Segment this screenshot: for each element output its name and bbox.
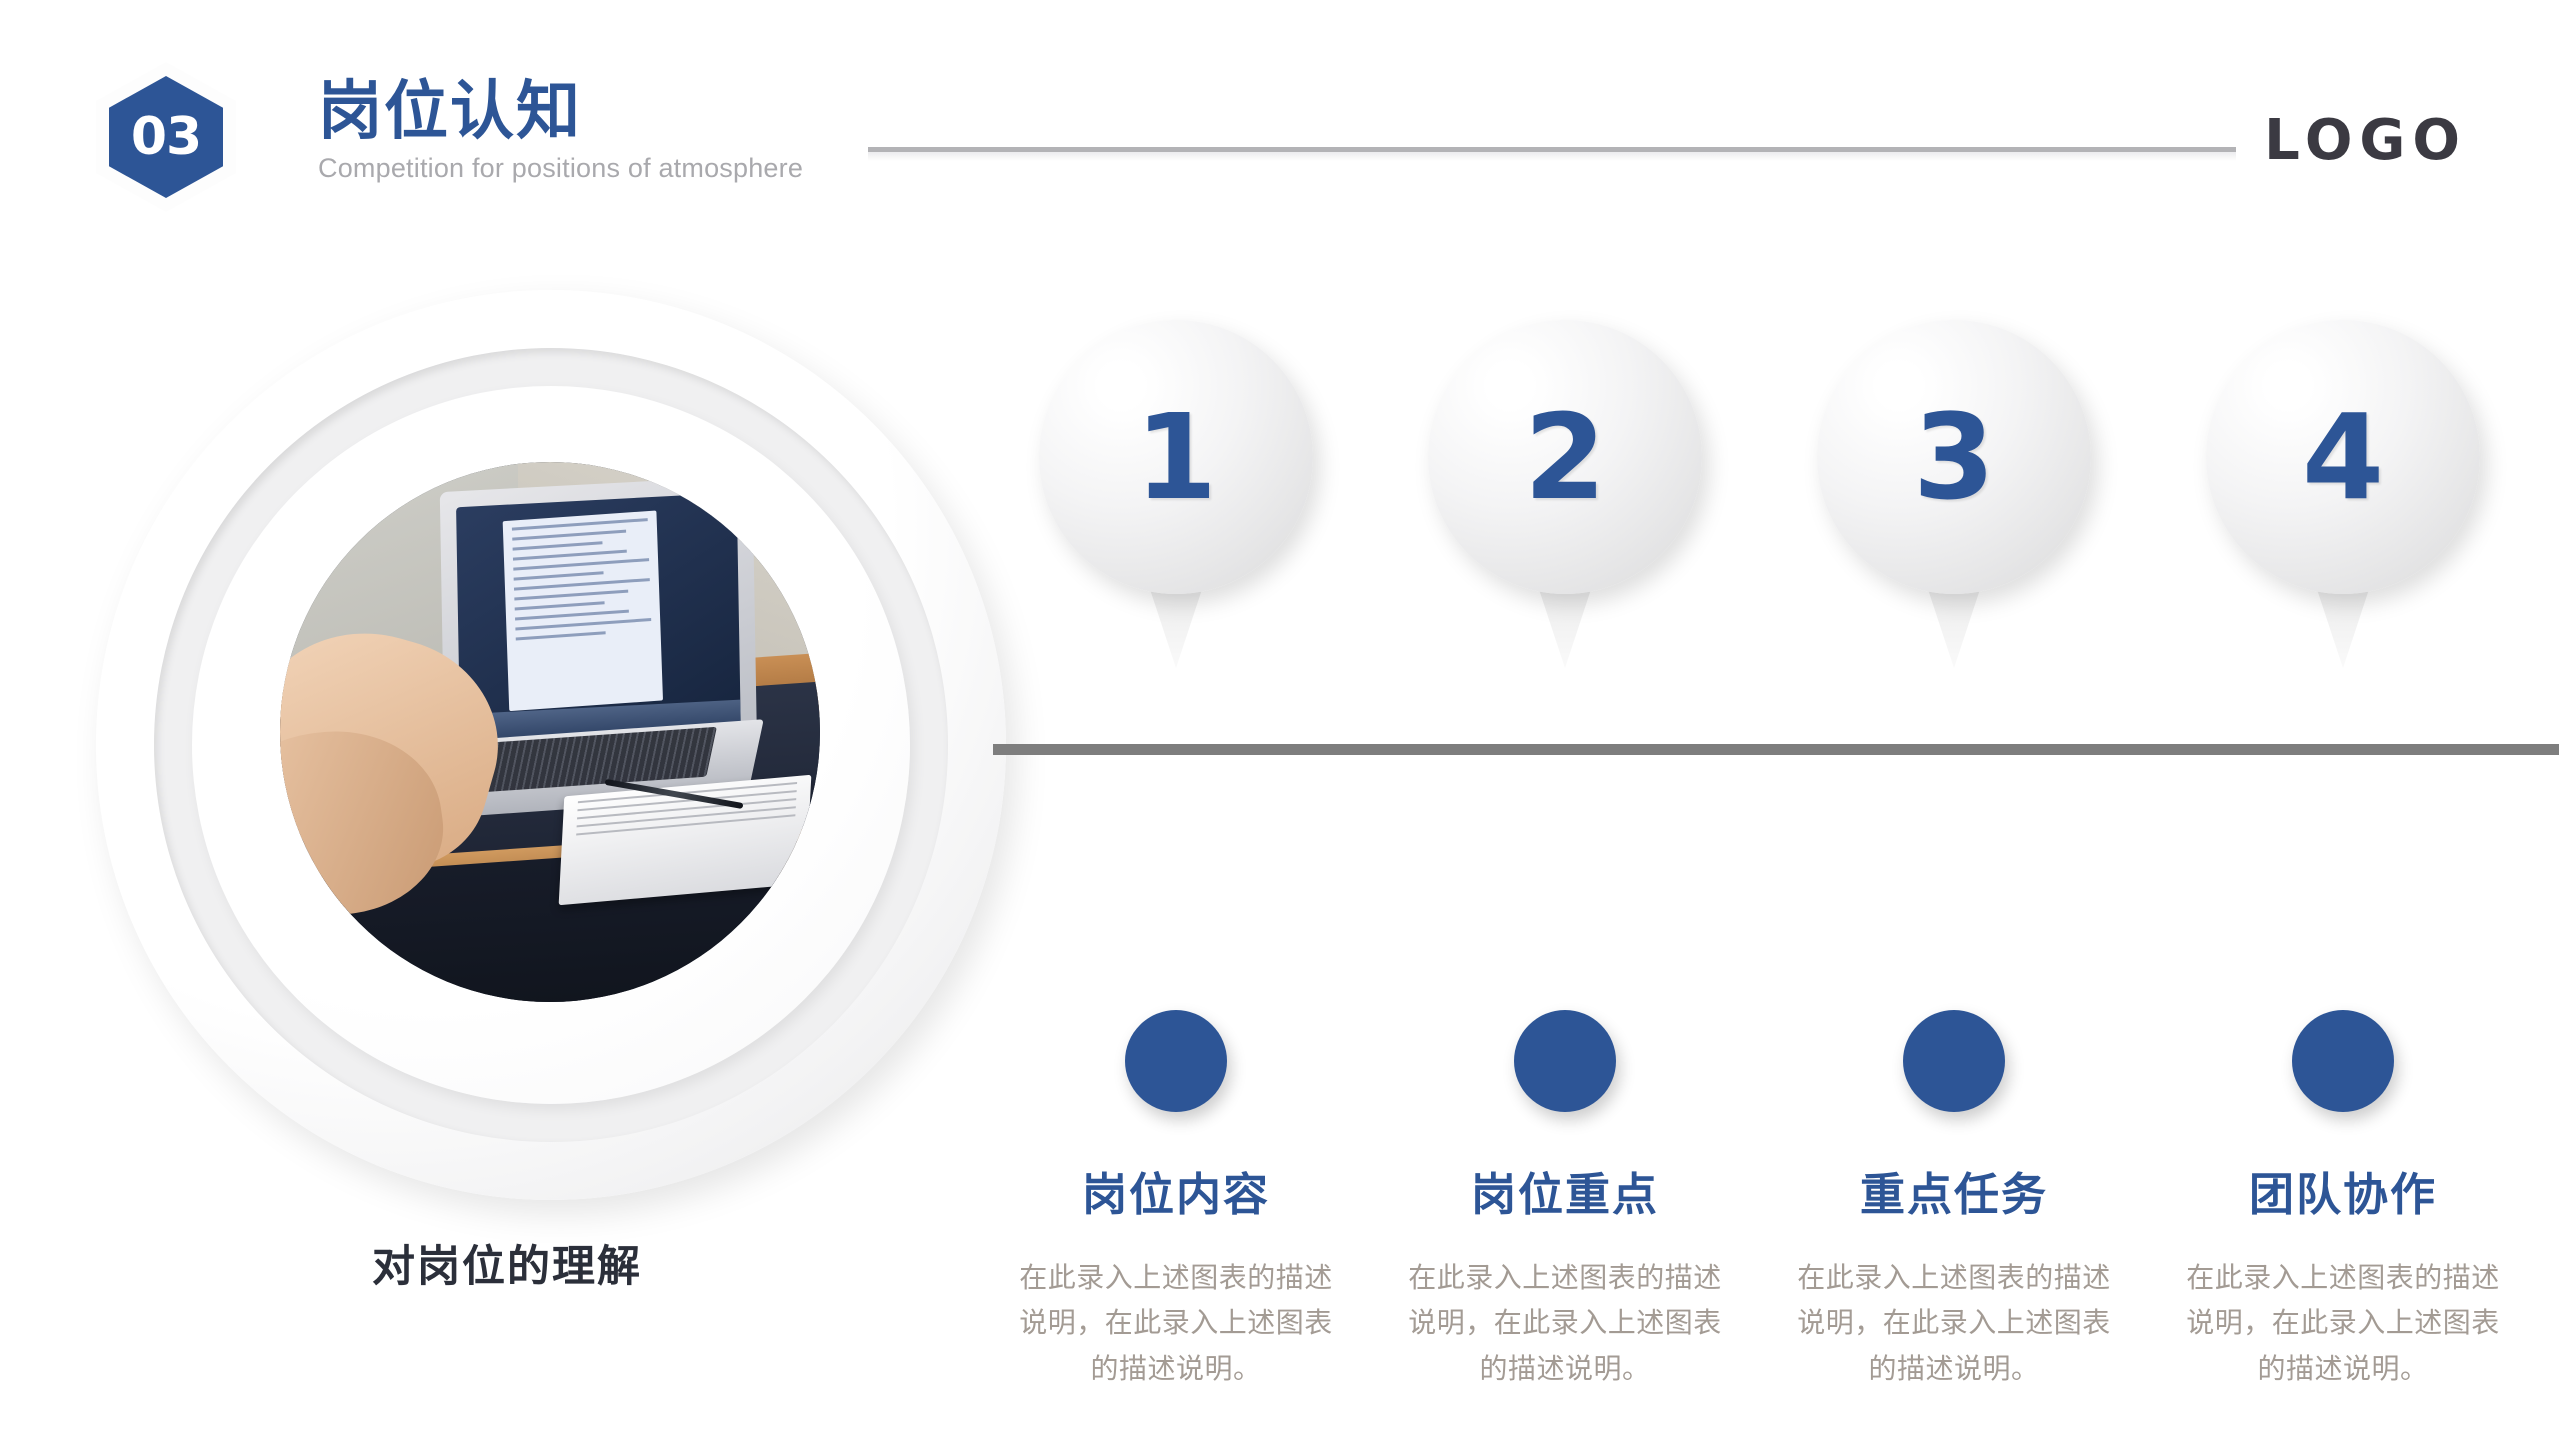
step-description: 在此录入上述图表的描述说明，在此录入上述图表的描述说明。 [1789,1255,2119,1391]
timeline-step[interactable]: 3 重点任务 在此录入上述图表的描述说明，在此录入上述图表的描述说明。 [1789,320,2119,655]
timeline-node-dot[interactable] [1514,1010,1616,1112]
pin-number-label: 1 [1135,398,1217,516]
step-title: 岗位重点 [1400,1158,1730,1223]
step-description: 在此录入上述图表的描述说明，在此录入上述图表的描述说明。 [2178,1255,2508,1391]
timeline-node-dot[interactable] [1125,1010,1227,1112]
pin-circle: 1 [1039,320,1313,594]
step-title: 重点任务 [1789,1158,2119,1223]
step-pin-marker: 4 [2198,320,2488,655]
pin-circle: 4 [2206,320,2480,594]
pin-circle: 2 [1428,320,1702,594]
timeline-step[interactable]: 2 岗位重点 在此录入上述图表的描述说明，在此录入上述图表的描述说明。 [1400,320,1730,655]
step-title: 团队协作 [2178,1158,2508,1223]
timeline-steps: 1 岗位内容 在此录入上述图表的描述说明，在此录入上述图表的描述说明。 2 岗位… [0,0,2559,1440]
timeline-step[interactable]: 4 团队协作 在此录入上述图表的描述说明，在此录入上述图表的描述说明。 [2178,320,2508,655]
step-description: 在此录入上述图表的描述说明，在此录入上述图表的描述说明。 [1011,1255,1341,1391]
pin-circle: 3 [1817,320,2091,594]
pin-number-label: 4 [2302,398,2384,516]
timeline-node-dot[interactable] [2292,1010,2394,1112]
step-pin-marker: 2 [1420,320,1710,655]
pin-number-label: 2 [1524,398,1606,516]
timeline-node-dot[interactable] [1903,1010,2005,1112]
step-description: 在此录入上述图表的描述说明，在此录入上述图表的描述说明。 [1400,1255,1730,1391]
step-pin-marker: 3 [1809,320,2099,655]
pin-number-label: 3 [1913,398,1995,516]
step-pin-marker: 1 [1031,320,1321,655]
timeline-step[interactable]: 1 岗位内容 在此录入上述图表的描述说明，在此录入上述图表的描述说明。 [1011,320,1341,655]
step-title: 岗位内容 [1011,1158,1341,1223]
